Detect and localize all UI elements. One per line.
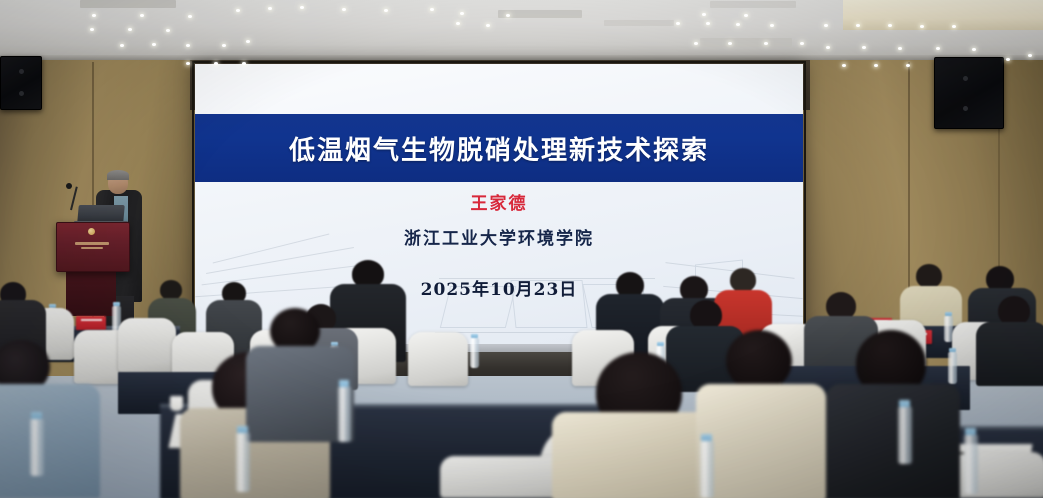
- speaker-driver-icon: [19, 91, 24, 96]
- ceiling-spotlight: [268, 7, 272, 10]
- bottle-cap: [339, 380, 349, 387]
- chair: [440, 456, 570, 498]
- water-bottle: [948, 352, 957, 384]
- ceiling-spotlight: [214, 62, 218, 65]
- slide-body: 王家德 浙江工业大学环境学院 2025年10月23日: [195, 189, 803, 300]
- bottle-cap: [113, 302, 120, 306]
- ceiling-spotlight: [486, 24, 490, 27]
- ceiling-spotlight: [744, 14, 748, 17]
- ceiling-spotlight: [188, 15, 192, 18]
- microphone-head: [66, 183, 72, 189]
- water-bottle: [470, 338, 479, 368]
- ceiling-vent: [710, 1, 796, 8]
- slide-title-band: 低温烟气生物脱硝处理新技术探索: [195, 114, 803, 182]
- ceiling-vent: [498, 10, 582, 18]
- ceiling-spotlight: [676, 22, 680, 25]
- chair: [408, 332, 468, 386]
- ceiling-spotlight: [706, 22, 710, 25]
- ceiling-spotlight: [430, 8, 434, 11]
- podium-nameplate: [64, 238, 120, 252]
- ceiling-spotlight: [300, 6, 304, 9]
- ceiling-spotlight: [92, 14, 96, 17]
- conference-room-photo: 低温烟气生物脱硝处理新技术探索 王家德 浙江工业大学环境学院 2025年10月2…: [0, 0, 1043, 498]
- speaker-driver-icon: [963, 76, 968, 81]
- ceiling-spotlight: [824, 24, 828, 27]
- water-bottle: [964, 434, 978, 494]
- ceiling-spotlight: [140, 14, 144, 17]
- bottle-cap: [31, 412, 42, 419]
- ceiling-spotlight: [728, 42, 732, 45]
- ceiling-spotlight: [222, 44, 226, 47]
- ceiling-spotlight: [242, 62, 246, 65]
- chair: [118, 318, 176, 372]
- ceiling-spotlight: [906, 64, 910, 67]
- speaker-driver-icon: [963, 106, 968, 111]
- ceiling-spotlight: [874, 64, 878, 67]
- ceiling-spotlight: [920, 25, 924, 28]
- slide-speaker-name: 王家德: [195, 189, 803, 214]
- ceiling-spotlight: [702, 13, 706, 16]
- speaker-driver-icon: [19, 69, 24, 74]
- ceiling-spotlight: [764, 42, 768, 45]
- water-bottle: [700, 440, 714, 498]
- ceiling-spotlight: [862, 46, 866, 49]
- podium-base: [66, 268, 116, 316]
- ceiling-spotlight: [384, 9, 388, 12]
- ceiling-spotlight: [186, 62, 190, 65]
- ceiling-spotlight: [972, 48, 976, 51]
- ceiling-spotlight: [888, 24, 892, 27]
- bottle-cap: [945, 312, 952, 316]
- ceiling-spotlight: [1006, 58, 1010, 61]
- ceiling-spotlight: [120, 44, 124, 47]
- ceiling-vent: [700, 38, 792, 47]
- ceiling-spotlight: [166, 29, 170, 32]
- ceiling-spotlight: [506, 14, 510, 17]
- ceiling-vent: [80, 0, 176, 8]
- ceiling-spotlight: [152, 43, 156, 46]
- ceiling-spotlight: [246, 40, 250, 43]
- bottle-cap: [471, 334, 478, 338]
- ceiling-spotlight: [770, 24, 774, 27]
- ceiling-vent: [604, 20, 674, 26]
- water-bottle: [338, 386, 351, 442]
- ceiling-spotlight: [952, 25, 956, 28]
- ceiling-spotlight: [90, 28, 94, 31]
- water-bottle: [236, 432, 250, 492]
- bottle-cap: [657, 342, 664, 346]
- ceiling-spotlight: [128, 28, 132, 31]
- ceiling-spotlight: [736, 23, 740, 26]
- ceiling-spotlight: [456, 22, 460, 25]
- podium-emblem-icon: [88, 228, 95, 235]
- bottle-cap: [237, 426, 248, 433]
- bottle-cap: [949, 348, 956, 352]
- ceiling-spotlight: [694, 42, 698, 45]
- ceiling-spotlight: [826, 46, 830, 49]
- bottle-cap: [965, 428, 976, 435]
- ceiling-spotlight: [236, 9, 240, 12]
- slide-affiliation: 浙江工业大学环境学院: [195, 224, 803, 249]
- ceiling-spotlight: [856, 24, 860, 27]
- presenter-hair: [107, 170, 129, 180]
- wall-speaker-left: [0, 56, 42, 110]
- slide-date: 2025年10月23日: [195, 275, 803, 300]
- bottle-cap: [701, 434, 712, 441]
- water-bottle: [30, 418, 44, 476]
- slide-title: 低温烟气生物脱硝处理新技术探索: [289, 130, 709, 167]
- paper-cup: [170, 396, 183, 411]
- ceiling-spotlight: [936, 47, 940, 50]
- bottle-cap: [899, 400, 910, 407]
- ceiling-spotlight: [1028, 54, 1032, 57]
- ceiling-spotlight: [842, 64, 846, 67]
- ceiling-spotlight: [186, 44, 190, 47]
- water-bottle: [898, 406, 912, 464]
- ceiling-spotlight: [898, 47, 902, 50]
- ceiling-spotlight: [460, 12, 464, 15]
- ceiling-spotlight: [342, 8, 346, 11]
- ceiling-light: [843, 0, 1043, 30]
- name-card: [76, 316, 106, 330]
- ceiling-spotlight: [800, 42, 804, 45]
- wall-speaker-right: [934, 57, 1004, 129]
